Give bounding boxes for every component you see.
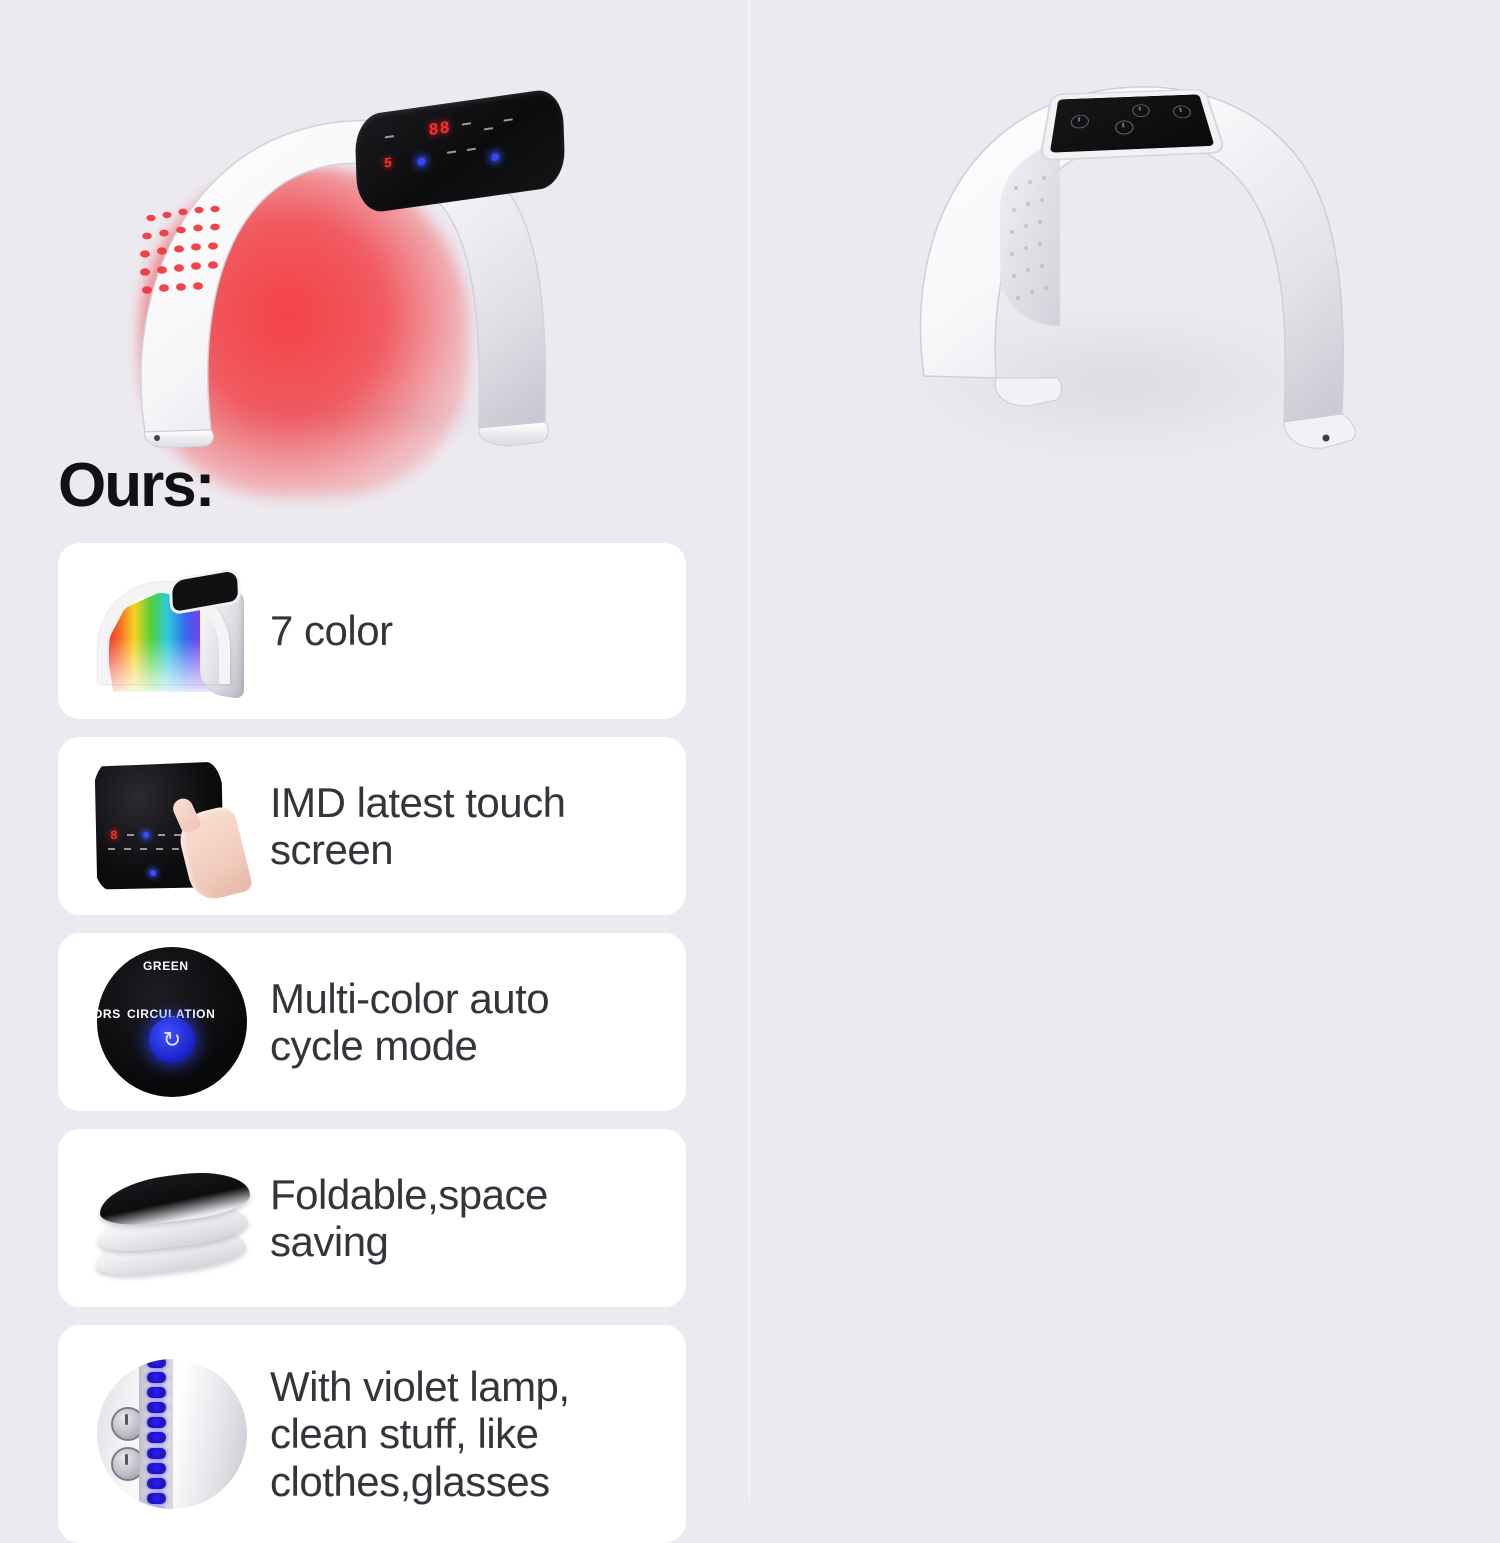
feature-label: Foldable,space saving xyxy=(260,1171,548,1265)
feature-card-violet-lamp[interactable]: With violet lamp, clean stuff, like clot… xyxy=(58,1325,686,1543)
power-button-icon[interactable] xyxy=(1070,115,1089,129)
cycle-refresh-icon[interactable]: ↻ xyxy=(149,1017,195,1063)
feature-card-touch-screen[interactable]: 8 29 xyxy=(58,737,686,915)
feature-label: Multi-color auto cycle mode xyxy=(260,975,549,1069)
column-divider xyxy=(748,0,751,1500)
mode-button-icon[interactable] xyxy=(1115,120,1134,135)
ours-heading: Ours: xyxy=(58,450,213,521)
others-hero-image xyxy=(750,0,1500,500)
ours-column: 88 5 xyxy=(0,0,750,1500)
ours-feature-list: 7 color 8 29 xyxy=(58,543,686,1543)
dial-label-green: GREEN xyxy=(143,959,189,973)
dial-label-ors: ORS xyxy=(97,1007,121,1021)
circulation-dial-icon: GREEN ORS CIRCULATION ↻ xyxy=(84,947,260,1097)
violet-lamp-strip-icon xyxy=(84,1359,260,1509)
timer-button-icon[interactable] xyxy=(1172,105,1192,118)
touch-screen-hand-icon: 8 29 xyxy=(84,751,260,901)
feature-label: 7 color xyxy=(260,607,393,654)
feature-card-7-color[interactable]: 7 color xyxy=(58,543,686,719)
hero-button-panel[interactable] xyxy=(1050,94,1215,152)
feature-label: With violet lamp, clean stuff, like clot… xyxy=(260,1363,570,1504)
feature-card-foldable[interactable]: Foldable,space saving xyxy=(58,1129,686,1307)
ours-hero-image: 88 5 xyxy=(0,0,750,500)
device-body: 88 5 xyxy=(107,92,577,452)
folded-stack-icon xyxy=(84,1143,260,1293)
feature-card-cycle-mode[interactable]: GREEN ORS CIRCULATION ↻ Multi-color auto… xyxy=(58,933,686,1111)
comparison-page: 88 5 xyxy=(0,0,1500,1500)
feature-label: IMD latest touch screen xyxy=(260,779,565,873)
rainbow-arch-icon xyxy=(84,556,260,706)
led-array xyxy=(137,202,287,332)
light-button-icon[interactable] xyxy=(1132,104,1151,117)
others-column: Others: 3 color xyxy=(750,0,1500,1500)
